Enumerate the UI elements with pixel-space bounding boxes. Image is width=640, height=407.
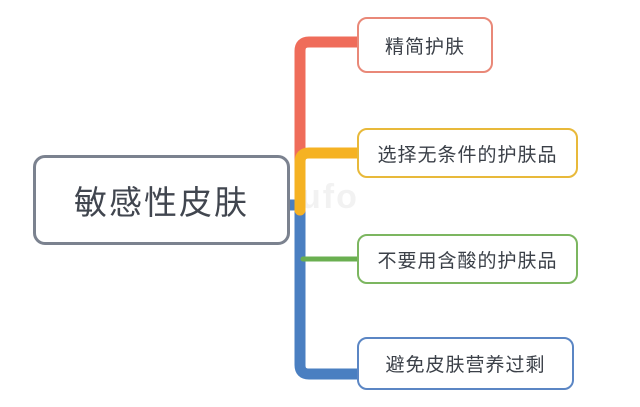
connector-branch-2 [300, 153, 357, 210]
branch-node-2-label: 选择无条件的护肤品 [377, 140, 557, 167]
branch-node-3[interactable]: 不要用含酸的护肤品 [357, 234, 578, 284]
root-node[interactable]: 敏感性皮肤 [33, 155, 290, 245]
branch-node-4-label: 避免皮肤营养过剩 [385, 350, 545, 377]
connector-branch-4 [290, 205, 357, 374]
branch-node-4[interactable]: 避免皮肤营养过剩 [357, 337, 574, 390]
root-node-label: 敏感性皮肤 [74, 176, 249, 224]
branch-node-1[interactable]: 精简护肤 [357, 17, 493, 73]
connector-branch-1 [300, 42, 357, 210]
branch-node-3-label: 不要用含酸的护肤品 [377, 246, 557, 273]
branch-node-2[interactable]: 选择无条件的护肤品 [357, 128, 578, 178]
mindmap-canvas: ufo 敏感性皮肤 精简护肤 选择无条件的护肤品 不要用含酸的护肤品 避免皮肤营… [0, 0, 640, 407]
branch-node-1-label: 精简护肤 [385, 32, 465, 59]
